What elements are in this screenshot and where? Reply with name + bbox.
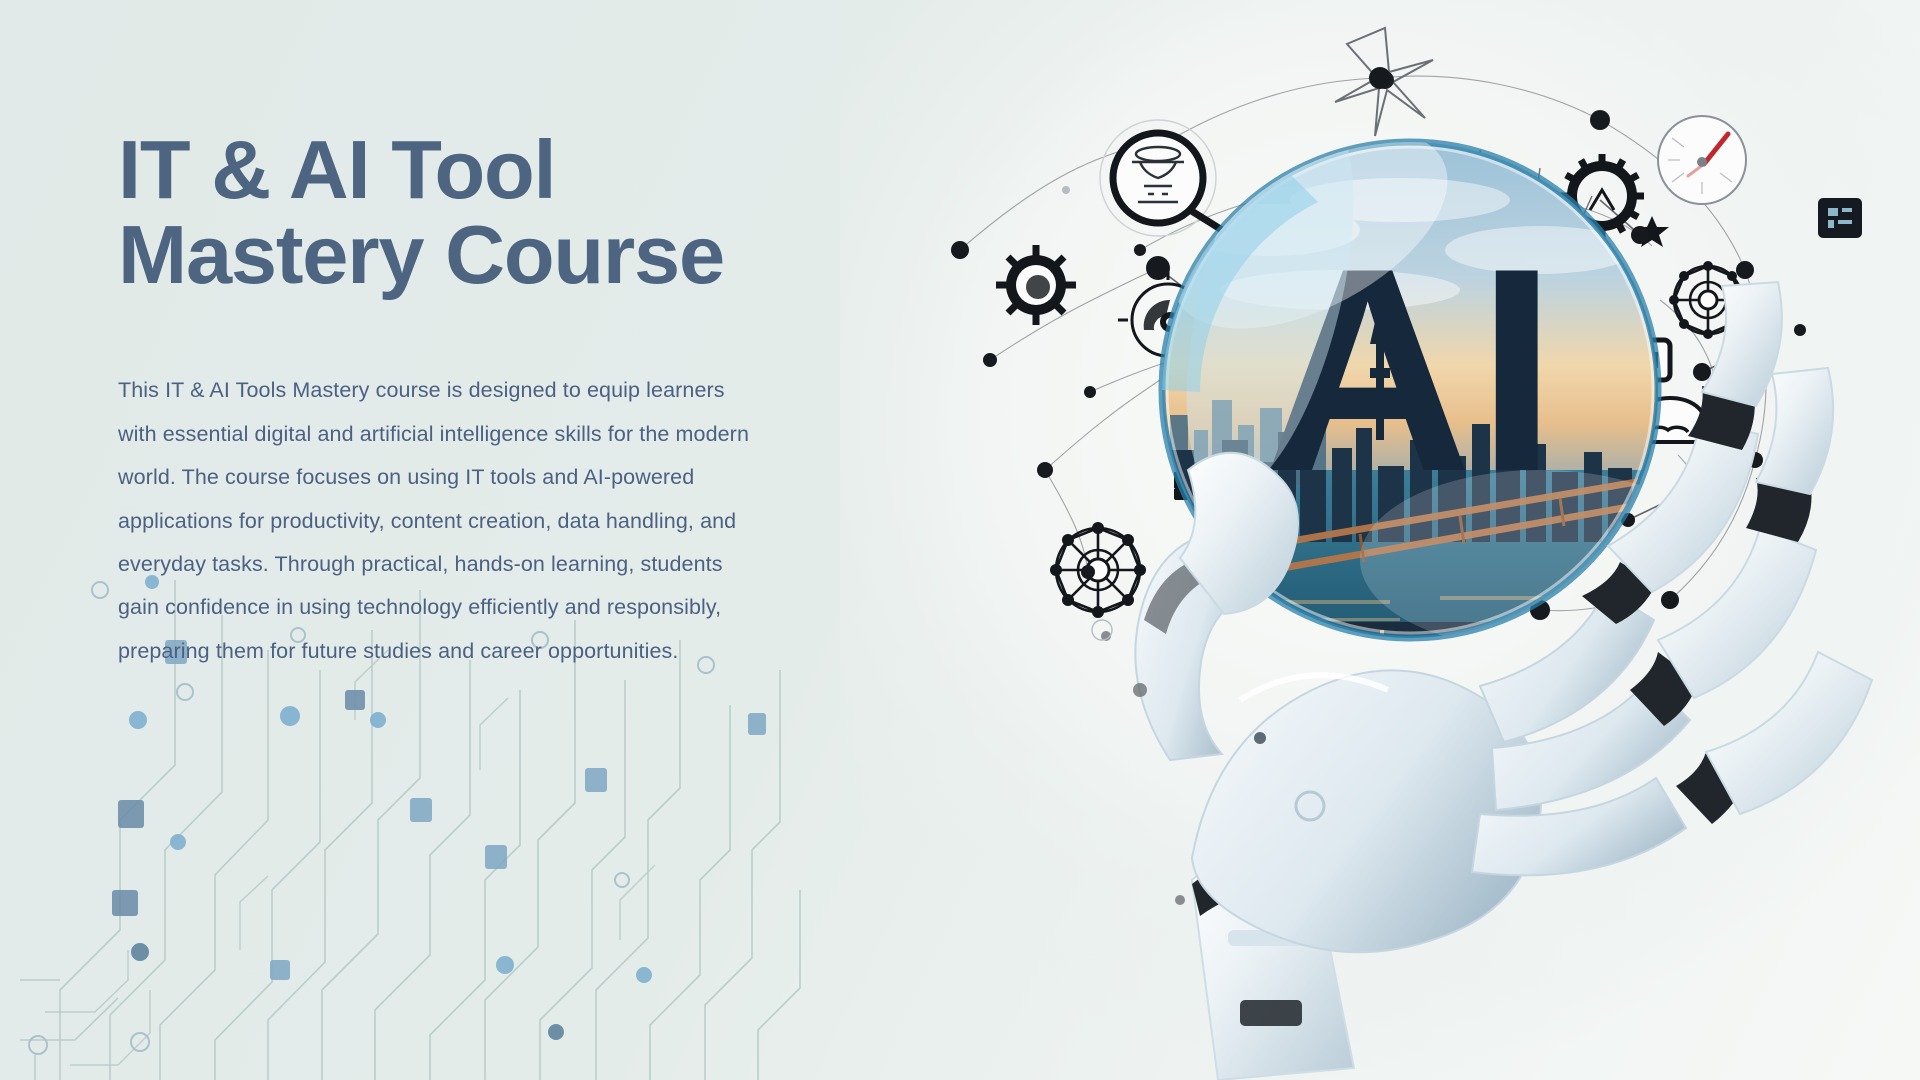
- molecule-network-icon: [1050, 522, 1146, 618]
- slide-root: IT & AI Tool Mastery Course This IT & AI…: [0, 0, 1920, 1080]
- gear-icon: [996, 245, 1076, 325]
- gauge-icon: [1658, 116, 1746, 204]
- chip-icon: [1818, 198, 1862, 238]
- hero-text-column: IT & AI Tool Mastery Course This IT & AI…: [118, 128, 878, 673]
- course-description: This IT & AI Tools Mastery course is des…: [118, 369, 758, 673]
- ai-hero-illustration: AI: [840, 0, 1920, 1080]
- page-title: IT & AI Tool Mastery Course: [118, 128, 878, 297]
